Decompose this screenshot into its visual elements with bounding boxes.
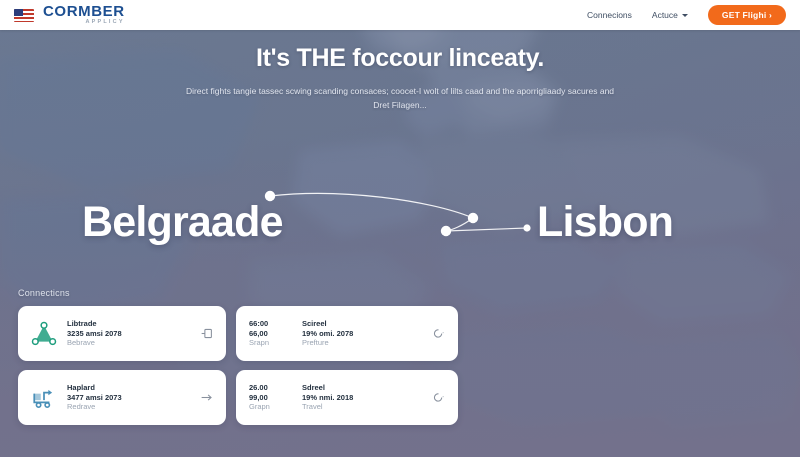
connection-label: Grapn — [249, 402, 291, 412]
route-node-waypoint-1 — [468, 213, 478, 223]
nav-item-connections-label: Connecions — [587, 10, 632, 20]
chevron-down-icon — [682, 14, 688, 17]
refresh-caret-icon[interactable] — [432, 391, 445, 404]
connection-card-secondary[interactable]: 26.00 99,00 Grapn Sdreel 19% nmi. 2018 T… — [236, 370, 458, 425]
route-node-destination — [523, 224, 530, 231]
connection-card-secondary[interactable]: 66:00 66,00 Srapn Scireel 19% omi. 2078 … — [236, 306, 458, 361]
connection-row: Libtrade 3235 amsi 2078 Bebrave 66:00 66… — [18, 306, 788, 361]
connection-title: Libtrade — [67, 319, 190, 328]
connection-name: Sdreel — [302, 383, 353, 393]
nav-item-actuce-label: Actuce — [652, 10, 678, 20]
connection-subtext: Bebrave — [67, 338, 190, 347]
connections-title: Connecticns — [18, 288, 788, 298]
connection-time: 26.00 — [249, 383, 291, 393]
connection-name: Scireel — [302, 319, 353, 329]
nav-links: Connecions Actuce GET Flighi › — [587, 5, 786, 25]
brand-name: CORMBER — [43, 4, 125, 19]
connection-category: Prefture — [302, 338, 353, 348]
connection-subtext: Redrave — [67, 402, 190, 411]
connection-label: Srapn — [249, 338, 291, 348]
connection-price: 99,00 — [249, 393, 291, 403]
nav-item-actuce[interactable]: Actuce — [652, 10, 688, 20]
connection-price: 66,00 — [249, 329, 291, 339]
cargo-cart-icon — [31, 385, 57, 411]
get-flight-button[interactable]: GET Flighi › — [708, 5, 786, 25]
brand-subtitle: APPLICY — [43, 20, 125, 26]
refresh-caret-icon[interactable] — [432, 327, 445, 340]
us-flag-icon — [14, 9, 34, 22]
connection-rate: 19% omi. 2078 — [302, 329, 353, 339]
destination-city-label: Lisbon — [537, 198, 673, 247]
connection-card-primary[interactable]: Haplard 3477 amsi 2073 Redrave — [18, 370, 226, 425]
network-node-icon — [31, 321, 57, 347]
connection-time: 66:00 — [249, 319, 291, 329]
connection-rate: 19% nmi. 2018 — [302, 393, 353, 403]
connection-detail: 3477 amsi 2073 — [67, 393, 190, 402]
route-node-waypoint-2 — [441, 226, 451, 236]
arrow-right-icon[interactable] — [200, 391, 213, 404]
top-navigation-bar: CORMBER APPLICY Connecions Actuce GET Fl… — [0, 0, 800, 30]
connection-row: Haplard 3477 amsi 2073 Redrave 26.00 99,… — [18, 370, 788, 425]
connection-title: Haplard — [67, 383, 190, 392]
connection-category: Travel — [302, 402, 353, 412]
route-segment-1 — [270, 193, 473, 218]
route-segment-3 — [446, 228, 527, 231]
connections-section: Connecticns Libtrade 3235 amsi 2078 Bebr… — [18, 288, 788, 434]
brand-logo[interactable]: CORMBER APPLICY — [14, 4, 125, 26]
list-icon[interactable] — [200, 327, 213, 340]
connection-card-primary[interactable]: Libtrade 3235 amsi 2078 Bebrave — [18, 306, 226, 361]
origin-city-label: Belgraade — [82, 198, 283, 247]
connection-detail: 3235 amsi 2078 — [67, 329, 190, 338]
nav-item-connections[interactable]: Connecions — [587, 10, 632, 20]
